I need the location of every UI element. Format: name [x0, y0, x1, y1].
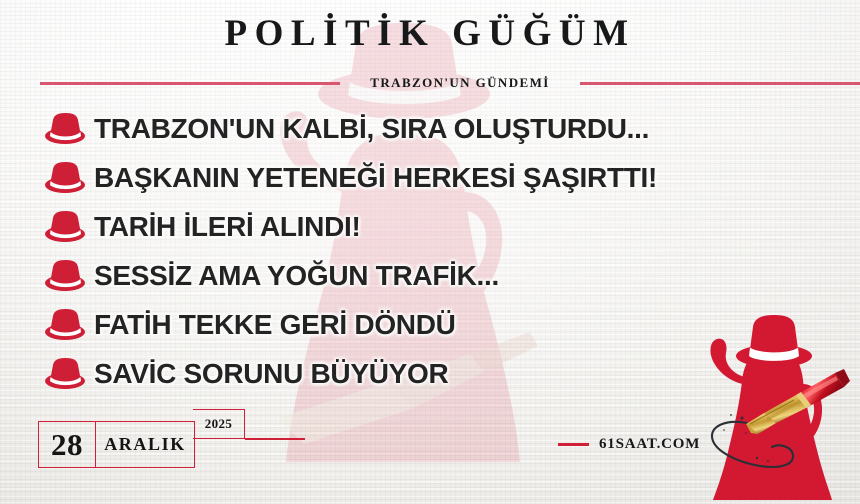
date-tail-rule	[245, 438, 305, 440]
subtitle-text: TRABZON'UN GÜNDEMİ	[340, 75, 580, 91]
subtitle-row: TRABZON'UN GÜNDEMİ	[0, 70, 860, 96]
site-url-row[interactable]: 61SAAT.COM	[558, 436, 700, 453]
top-hat-icon	[44, 357, 86, 391]
list-item[interactable]: TARİH İLERİ ALINDI!	[44, 202, 764, 251]
teapot-with-tophat-and-pen-logo-icon	[702, 302, 854, 502]
date-day: 28	[39, 422, 96, 467]
top-hat-icon	[44, 259, 86, 293]
top-hat-icon	[44, 161, 86, 195]
headline-list: TRABZON'UN KALBİ, SIRA OLUŞTURDU... BAŞK…	[44, 104, 764, 398]
site-url-text: 61SAAT.COM	[599, 436, 700, 453]
headline-text: FATİH TEKKE GERİ DÖNDÜ	[94, 309, 456, 341]
politik-gugum-news-card: POLİTİK GÜĞÜM TRABZON'UN GÜNDEMİ TRABZON…	[0, 0, 860, 504]
list-item[interactable]: SESSİZ AMA YOĞUN TRAFİK...	[44, 251, 764, 300]
site-url-rule	[558, 443, 589, 445]
list-item[interactable]: BAŞKANIN YETENEĞİ HERKESİ ŞAŞIRTTI!	[44, 153, 764, 202]
top-hat-icon	[44, 308, 86, 342]
headline-text: BAŞKANIN YETENEĞİ HERKESİ ŞAŞIRTTI!	[94, 162, 657, 194]
top-hat-icon	[44, 112, 86, 146]
headline-text: TARİH İLERİ ALINDI!	[94, 211, 361, 243]
masthead: POLİTİK GÜĞÜM	[0, 14, 860, 55]
date-month: ARALIK	[96, 422, 194, 467]
list-item[interactable]: SAVİC SORUNU BÜYÜYOR	[44, 349, 764, 398]
headline-text: TRABZON'UN KALBİ, SIRA OLUŞTURDU...	[94, 113, 649, 145]
headline-text: SAVİC SORUNU BÜYÜYOR	[94, 358, 448, 390]
headline-text: SESSİZ AMA YOĞUN TRAFİK...	[94, 260, 499, 292]
date-block: 28 ARALIK 2025	[38, 421, 195, 468]
date-year: 2025	[193, 409, 245, 439]
top-hat-icon	[44, 210, 86, 244]
date-main-box: 28 ARALIK	[38, 421, 195, 468]
list-item[interactable]: FATİH TEKKE GERİ DÖNDÜ	[44, 300, 764, 349]
divider-left	[40, 82, 340, 85]
divider-right	[580, 82, 860, 85]
list-item[interactable]: TRABZON'UN KALBİ, SIRA OLUŞTURDU...	[44, 104, 764, 153]
page-title: POLİTİK GÜĞÜM	[0, 14, 860, 55]
